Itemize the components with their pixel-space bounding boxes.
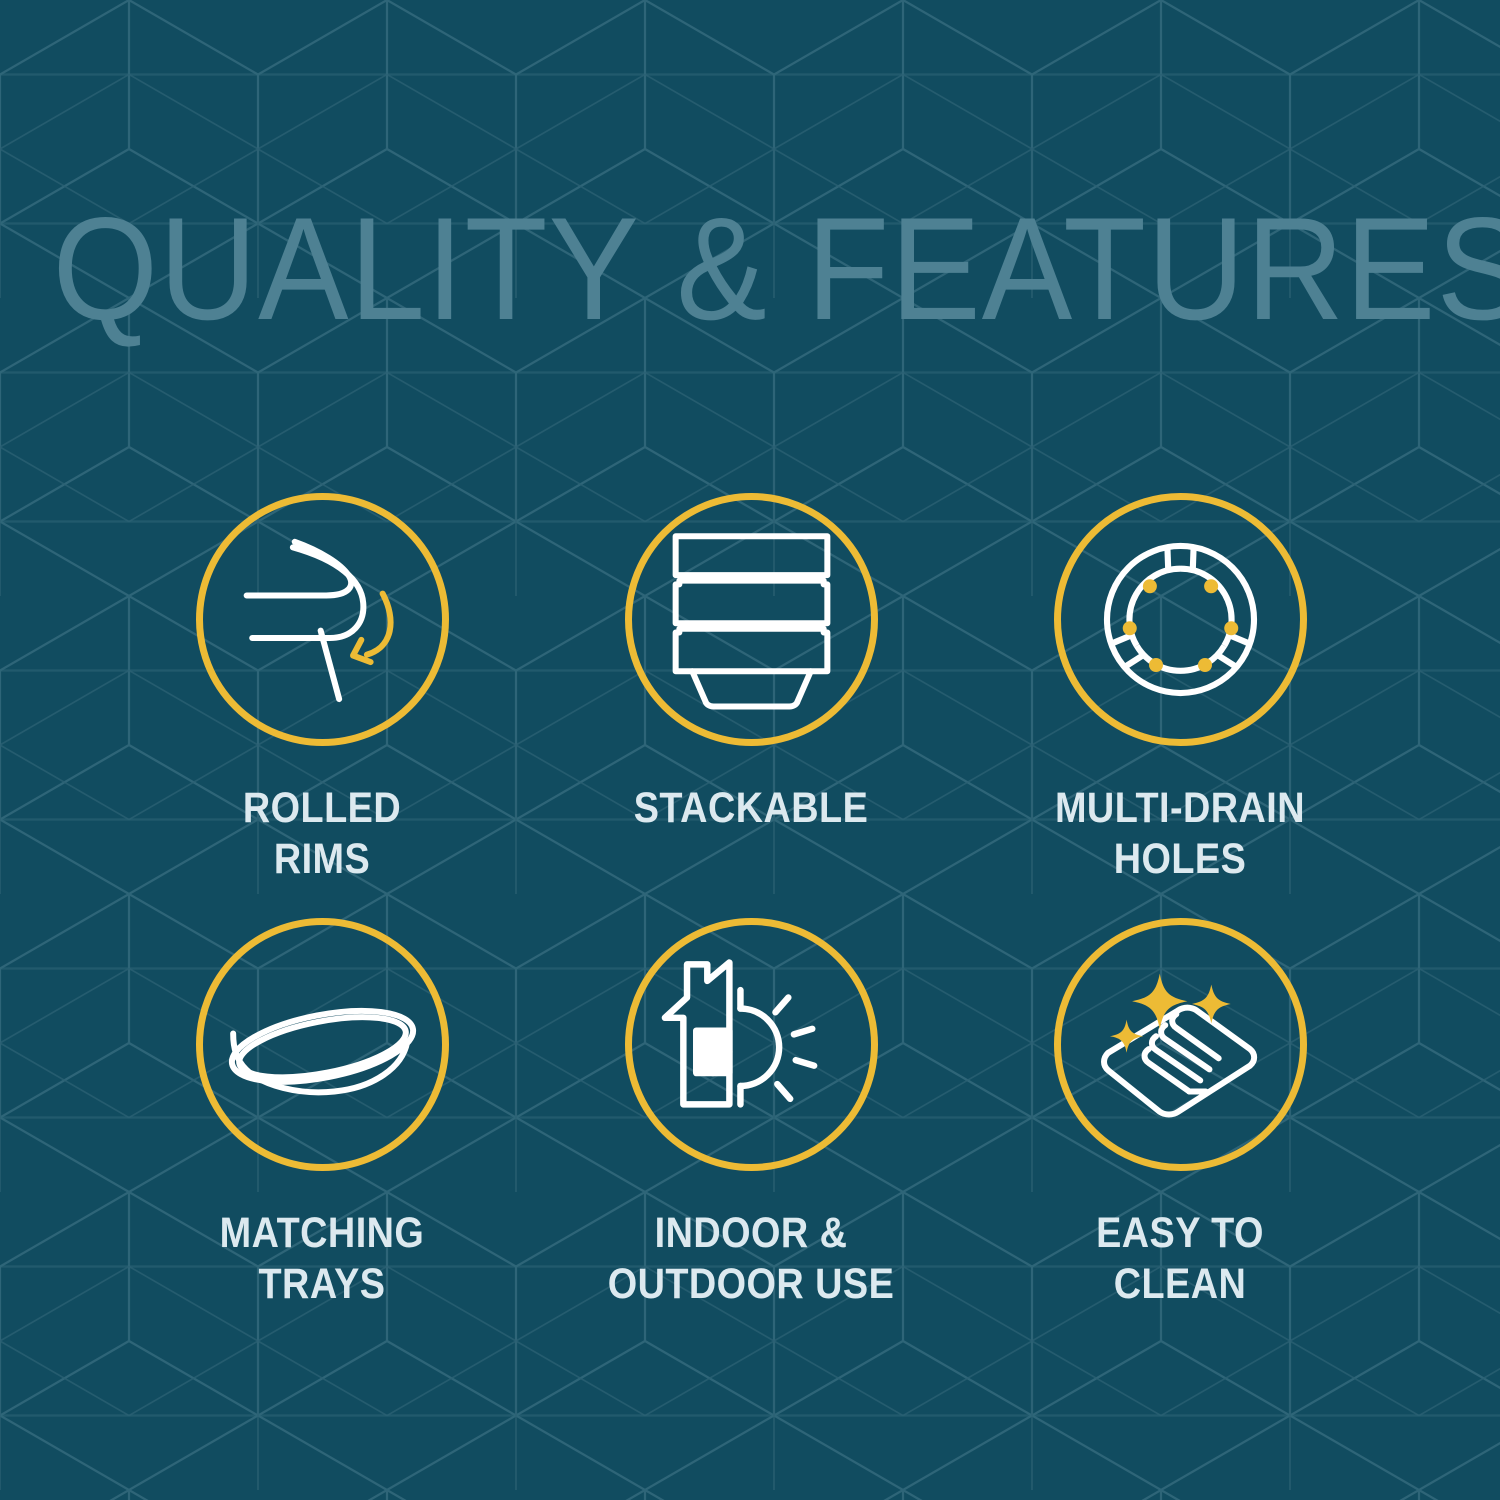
- feature-icon-badge: [625, 918, 878, 1171]
- feature-label: MATCHING TRAYS: [164, 1208, 481, 1309]
- drain-holes-icon: [1093, 532, 1268, 707]
- rolled-rim-icon: [230, 527, 415, 712]
- feature-rolled-rims[interactable]: ROLLED RIMS: [142, 493, 502, 884]
- tray-icon: [225, 957, 420, 1132]
- hand-wiping-sparkle-icon: [1085, 957, 1275, 1132]
- feature-multi-drain-holes[interactable]: MULTI-DRAIN HOLES: [1000, 493, 1360, 884]
- feature-label: EASY TO CLEAN: [1022, 1208, 1339, 1309]
- feature-stackable[interactable]: STACKABLE: [571, 493, 931, 834]
- feature-easy-to-clean[interactable]: EASY TO CLEAN: [1000, 918, 1360, 1309]
- feature-icon-badge: [1054, 493, 1307, 746]
- feature-icon-badge: [625, 493, 878, 746]
- feature-label: STACKABLE: [593, 783, 910, 834]
- feature-icon-badge: [196, 493, 449, 746]
- feature-icon-badge: [1054, 918, 1307, 1171]
- house-sun-icon: [659, 957, 844, 1132]
- feature-label: ROLLED RIMS: [164, 783, 481, 884]
- feature-indoor-outdoor-use[interactable]: INDOOR & OUTDOOR USE: [571, 918, 931, 1309]
- feature-graphic-canvas: QUALITY & FEATURES: [0, 0, 1500, 1500]
- feature-label: MULTI-DRAIN HOLES: [1022, 783, 1339, 884]
- feature-label: INDOOR & OUTDOOR USE: [593, 1208, 910, 1309]
- features-grid: ROLLED RIMS STACKABL: [0, 0, 1500, 1500]
- feature-matching-trays[interactable]: MATCHING TRAYS: [142, 918, 502, 1309]
- stacked-pots-icon: [664, 527, 839, 712]
- feature-icon-badge: [196, 918, 449, 1171]
